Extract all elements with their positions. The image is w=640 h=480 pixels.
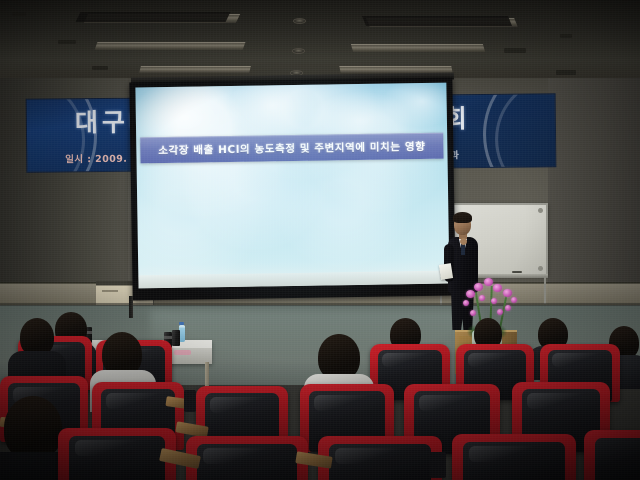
ceiling-vent: [556, 70, 576, 75]
auditorium-photo: 대구대 발표회 대구 발표회 일시 : 2009. 11. 20(금) 주최 :…: [0, 0, 640, 480]
ceiling-vent: [504, 48, 526, 53]
ceiling-speaker-icon: [293, 18, 306, 24]
seat-cushion: [595, 438, 640, 480]
seat-highlight: [210, 397, 270, 413]
table-thermos-band: [164, 336, 172, 339]
whiteboard-corner-bolt: [538, 266, 543, 271]
seat-highlight: [552, 353, 604, 367]
orchid-bloom: [493, 284, 502, 292]
seat-highlight: [468, 353, 518, 367]
seat-highlight: [469, 446, 549, 462]
whiteboard-corner-bolt: [538, 208, 543, 213]
seat-highlight: [527, 393, 591, 409]
seat-highlight: [75, 440, 151, 456]
table-pink-folder: [174, 350, 191, 355]
orchid-bloom: [505, 305, 511, 311]
ceiling-vent: [560, 34, 572, 38]
whiteboard-stand-leg: [544, 276, 546, 304]
ceiling-vent: [12, 12, 26, 16]
orchid-bloom: [474, 283, 483, 291]
ceiling-vent: [92, 66, 108, 70]
slide-footer-band: [138, 271, 449, 289]
ceiling-speaker-icon: [292, 48, 305, 54]
whiteboard-marker: [512, 271, 522, 273]
seat-highlight: [314, 395, 376, 411]
slide-title-text: 소각장 배출 HCl의 농도측정 및 주변지역에 미치는 영향: [158, 139, 425, 158]
ceiling-recess: [362, 16, 512, 26]
presenter-notes: [439, 263, 453, 280]
seat-armrest-mount: [184, 390, 196, 412]
slide-title-bar: 소각장 배출 HCl의 농도측정 및 주변지역에 미치는 영향: [140, 133, 443, 164]
auditorium-seat[interactable]: [58, 428, 176, 480]
seat-highlight: [203, 448, 281, 464]
seat-highlight: [106, 393, 166, 409]
slide-cloud-imagery: [135, 83, 447, 180]
ceiling-light-fixture: [139, 66, 251, 73]
stage-floor-edge: [0, 303, 640, 306]
ceiling-recess: [76, 12, 231, 22]
auditorium-seat[interactable]: [186, 436, 308, 480]
auditorium-seat[interactable]: [584, 430, 640, 480]
seat-highlight: [419, 395, 481, 411]
orchid-bloom: [470, 310, 476, 316]
presenter-hand: [460, 238, 467, 245]
ceiling-vent: [58, 40, 76, 44]
audience-head: [4, 396, 62, 460]
orchid-bloom: [463, 300, 469, 306]
projection-screen: 소각장 배출 HCl의 농도측정 및 주변지역에 미치는 영향: [129, 77, 455, 300]
orchid-bloom: [466, 290, 475, 298]
seat-highlight: [335, 448, 415, 464]
auditorium-seat[interactable]: [318, 436, 442, 480]
orchid-bloom: [479, 295, 485, 301]
presentation-slide: 소각장 배출 HCl의 농도측정 및 주변지역에 미치는 영향: [135, 83, 449, 289]
ceiling-light-fixture: [95, 42, 246, 50]
seat-armrest-mount: [430, 452, 446, 478]
orchid-bloom: [511, 297, 517, 303]
projection-screen-leg: [129, 296, 133, 318]
presenter-hair: [453, 212, 472, 223]
table-bottle-cap: [179, 322, 184, 325]
table-thermos: [172, 330, 180, 346]
ceiling-light-fixture: [351, 44, 485, 52]
orchid-bloom: [484, 278, 493, 286]
banner-swoosh-decor: [494, 93, 556, 173]
orchid-bloom: [497, 309, 503, 315]
cabinet-vent-slot: [102, 290, 118, 292]
orchid-bloom: [503, 289, 512, 297]
seat-highlight: [382, 353, 434, 367]
orchid-bloom: [491, 298, 497, 304]
auditorium-seat[interactable]: [452, 434, 576, 480]
